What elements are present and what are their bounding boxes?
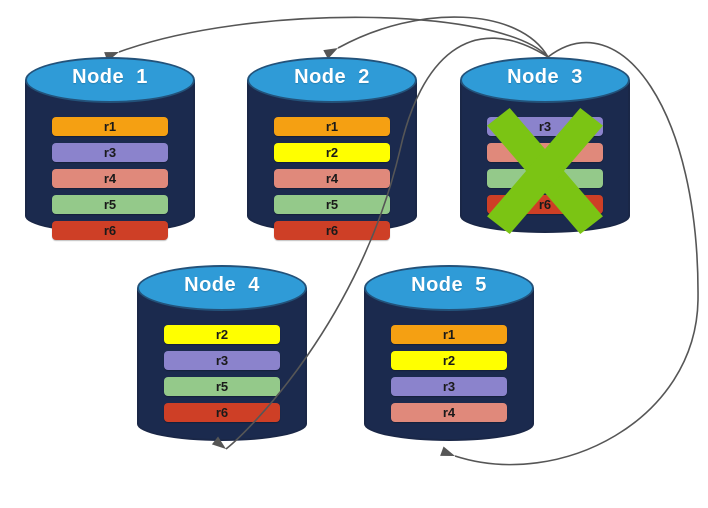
replica-bar-r5[interactable]: r5 bbox=[52, 195, 168, 214]
node-label: Node 3 bbox=[460, 66, 630, 89]
replica-bar-r2[interactable]: r2 bbox=[391, 351, 507, 370]
edge-curve bbox=[338, 17, 548, 57]
replica-bar-r6[interactable]: r6 bbox=[164, 403, 280, 422]
replica-bar-r1[interactable]: r1 bbox=[391, 325, 507, 344]
node-3[interactable]: Node 3r3r4r5r6 bbox=[460, 57, 630, 233]
replica-list: r2r3r5r6 bbox=[137, 325, 307, 422]
node-label: Node 5 bbox=[364, 274, 534, 297]
node-label: Node 1 bbox=[25, 66, 195, 89]
edge-arrowhead bbox=[440, 447, 457, 461]
replica-bar-r4[interactable]: r4 bbox=[391, 403, 507, 422]
node-1[interactable]: Node 1r1r3r4r5r6 bbox=[25, 57, 195, 233]
replica-list: r1r2r3r4 bbox=[364, 325, 534, 422]
node-2[interactable]: Node 2r1r2r4r5r6 bbox=[247, 57, 417, 233]
replica-bar-r6[interactable]: r6 bbox=[274, 221, 390, 240]
replica-bar-r2[interactable]: r2 bbox=[164, 325, 280, 344]
replica-bar-r5[interactable]: r5 bbox=[487, 169, 603, 188]
replica-bar-r3[interactable]: r3 bbox=[391, 377, 507, 396]
diagram-canvas: Node 1r1r3r4r5r6Node 2r1r2r4r5r6Node 3r3… bbox=[0, 0, 708, 508]
replica-bar-r2[interactable]: r2 bbox=[274, 143, 390, 162]
replica-bar-r3[interactable]: r3 bbox=[52, 143, 168, 162]
replica-list: r1r2r4r5r6 bbox=[247, 117, 417, 240]
node-label: Node 4 bbox=[137, 274, 307, 297]
replica-list: r1r3r4r5r6 bbox=[25, 117, 195, 240]
replica-bar-r4[interactable]: r4 bbox=[274, 169, 390, 188]
node-label: Node 2 bbox=[247, 66, 417, 89]
replica-bar-r4[interactable]: r4 bbox=[487, 143, 603, 162]
replica-bar-r3[interactable]: r3 bbox=[164, 351, 280, 370]
node-4[interactable]: Node 4r2r3r5r6 bbox=[137, 265, 307, 441]
replica-bar-r1[interactable]: r1 bbox=[52, 117, 168, 136]
edge-node3-to-node1 bbox=[104, 17, 548, 61]
replica-bar-r3[interactable]: r3 bbox=[487, 117, 603, 136]
replica-bar-r4[interactable]: r4 bbox=[52, 169, 168, 188]
replica-bar-r6[interactable]: r6 bbox=[487, 195, 603, 214]
replica-bar-r5[interactable]: r5 bbox=[274, 195, 390, 214]
node-5[interactable]: Node 5r1r2r3r4 bbox=[364, 265, 534, 441]
replica-bar-r6[interactable]: r6 bbox=[52, 221, 168, 240]
edge-node3-to-node2 bbox=[323, 17, 548, 59]
replica-bar-r5[interactable]: r5 bbox=[164, 377, 280, 396]
edge-curve bbox=[119, 17, 548, 57]
replica-list: r3r4r5r6 bbox=[460, 117, 630, 214]
replica-bar-r1[interactable]: r1 bbox=[274, 117, 390, 136]
